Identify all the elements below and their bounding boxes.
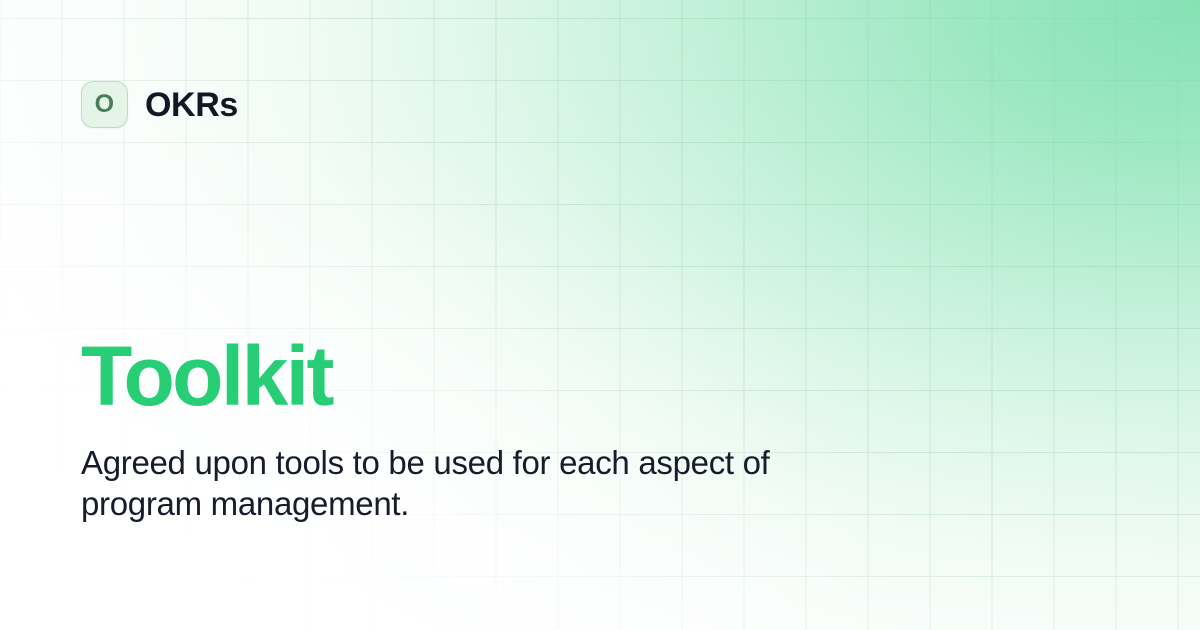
brand-lockup: O OKRs (81, 81, 1120, 128)
okrs-logo-badge: O (81, 81, 128, 128)
card-content: O OKRs Toolkit Agreed upon tools to be u… (0, 0, 1200, 630)
social-card: O OKRs Toolkit Agreed upon tools to be u… (0, 0, 1200, 630)
logo-letter-o-icon: O (95, 92, 115, 117)
page-title: Toolkit (81, 334, 771, 418)
page-subtitle: Agreed upon tools to be used for each as… (81, 442, 771, 524)
brand-name: OKRs (145, 88, 238, 122)
hero-text-block: Toolkit Agreed upon tools to be used for… (81, 334, 771, 524)
